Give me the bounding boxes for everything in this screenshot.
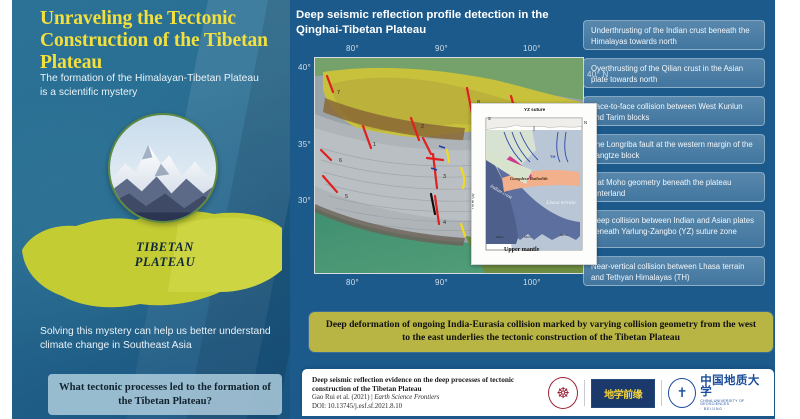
svg-text:Moho: Moho xyxy=(495,235,504,239)
citation-footer: Deep seismic reflection evidence on the … xyxy=(302,369,774,416)
mountain-photo xyxy=(108,113,218,223)
findings-panel: Underthrusting of the Indian crust benea… xyxy=(575,0,775,300)
finding-item-2[interactable]: Overthrusting of the Qilian crust in the… xyxy=(583,58,765,88)
svg-text:4: 4 xyxy=(443,220,446,226)
finding-item-7[interactable]: Near-vertical collision between Lhasa te… xyxy=(583,256,765,286)
peking-university-logo-icon: ☸ xyxy=(548,377,578,409)
finding-item-5[interactable]: Flat Moho geometry beneath the plateau h… xyxy=(583,172,765,202)
inset-label-yz-suture: YZ suture xyxy=(524,107,545,112)
inset-axis-time: Time (s) xyxy=(471,194,474,210)
intro-subtitle: The formation of the Himalayan-Tibetan P… xyxy=(40,72,268,100)
map-top-tick-100: 100° xyxy=(523,44,541,53)
citation-title: Deep seismic reflection evidence on the … xyxy=(312,375,544,394)
cug-logo-text: 中国地质大学 CHINA UNIVERSITY OF GEOSCIENCES ·… xyxy=(700,375,770,412)
finding-item-1[interactable]: Underthrusting of the Indian crust benea… xyxy=(583,20,765,50)
svg-text:1: 1 xyxy=(373,142,376,148)
earth-science-frontiers-logo: 地学前缘 xyxy=(591,379,655,408)
logo-divider-2 xyxy=(661,380,662,406)
esf-logo-text: 地学前缘 xyxy=(604,386,642,401)
finding-item-3[interactable]: Face-to-face collision between West Kunl… xyxy=(583,96,765,126)
finding-item-6[interactable]: Deep collision between Indian and Asian … xyxy=(583,210,765,248)
logo-divider-1 xyxy=(584,380,585,406)
cug-name-en: CHINA UNIVERSITY OF GEOSCIENCES xyxy=(700,400,770,407)
inset-label-gangdese: Gangdese Batholith xyxy=(510,176,548,181)
infographic-poster: Unraveling the Tectonic Construction of … xyxy=(12,0,775,419)
map-left-tick-30: 30° xyxy=(298,196,311,205)
inset-label-upper-mantle: Upper mantle xyxy=(504,247,539,253)
svg-text:Moho: Moho xyxy=(559,233,568,237)
map-left-tick-40: 40° xyxy=(298,63,311,72)
svg-text:3: 3 xyxy=(443,174,446,180)
plateau-label: TIBETAN PLATEAU xyxy=(100,240,230,270)
inset-label-th: TH xyxy=(550,154,555,159)
logo-row: ☸ 地学前缘 ✝ 中国地质大学 CHINA UNIVERSITY OF GEOS… xyxy=(548,374,770,412)
plateau-label-line1: TIBETAN xyxy=(100,240,230,255)
map-bottom-tick-90: 90° xyxy=(435,278,448,287)
citation-journal: Earth Science Frontiers xyxy=(374,394,439,401)
map-bottom-tick-80: 80° xyxy=(346,278,359,287)
citation-doi: DOI: 10.13745/j.esf.sf.2021.8.10 xyxy=(312,403,552,412)
inset-label-n: N xyxy=(584,120,587,125)
map-top-tick-80: 80° xyxy=(346,44,359,53)
citation-authors: Gao Rui et al. (2021) | Earth Science Fr… xyxy=(312,394,552,403)
research-question-box: What tectonic processes led to the forma… xyxy=(48,374,282,415)
finding-item-4[interactable]: The Longriba fault at the western margin… xyxy=(583,134,765,164)
seismic-cross-section-inset[interactable]: MohoMohoMoho YZ suture S N Time (s) Gang… xyxy=(471,103,597,265)
left-intro-panel: Unraveling the Tectonic Construction of … xyxy=(12,0,290,419)
cug-seal-icon: ✝ xyxy=(668,378,696,408)
inset-label-s: S xyxy=(488,116,491,121)
inset-label-lhasa-terrain: Lhasa terrain xyxy=(544,200,578,206)
map-left-tick-35: 35° xyxy=(298,140,311,149)
conclusion-banner: Deep deformation of ongoing India-Eurasi… xyxy=(308,311,774,353)
map-top-tick-90: 90° xyxy=(435,44,448,53)
map-section-heading: Deep seismic reflection profile detectio… xyxy=(296,8,576,38)
map-bottom-tick-100: 100° xyxy=(523,278,541,287)
cug-name-cn: 中国地质大学 xyxy=(700,375,770,398)
map-right-tick-40n: 40° N xyxy=(587,70,609,79)
plateau-label-line2: PLATEAU xyxy=(100,255,230,270)
svg-text:Moho: Moho xyxy=(523,235,532,239)
page-title: Unraveling the Tectonic Construction of … xyxy=(40,8,275,75)
cug-logo: ✝ 中国地质大学 CHINA UNIVERSITY OF GEOSCIENCES… xyxy=(668,375,770,412)
svg-text:5: 5 xyxy=(345,194,348,200)
svg-text:2: 2 xyxy=(421,124,424,130)
solving-text: Solving this mystery can help us better … xyxy=(40,325,272,353)
svg-text:6: 6 xyxy=(339,158,342,164)
citation-author-names: Gao Rui et al. (2021) xyxy=(312,394,370,401)
svg-text:7: 7 xyxy=(337,90,340,96)
cug-campus: · BEIJING · xyxy=(700,408,770,411)
